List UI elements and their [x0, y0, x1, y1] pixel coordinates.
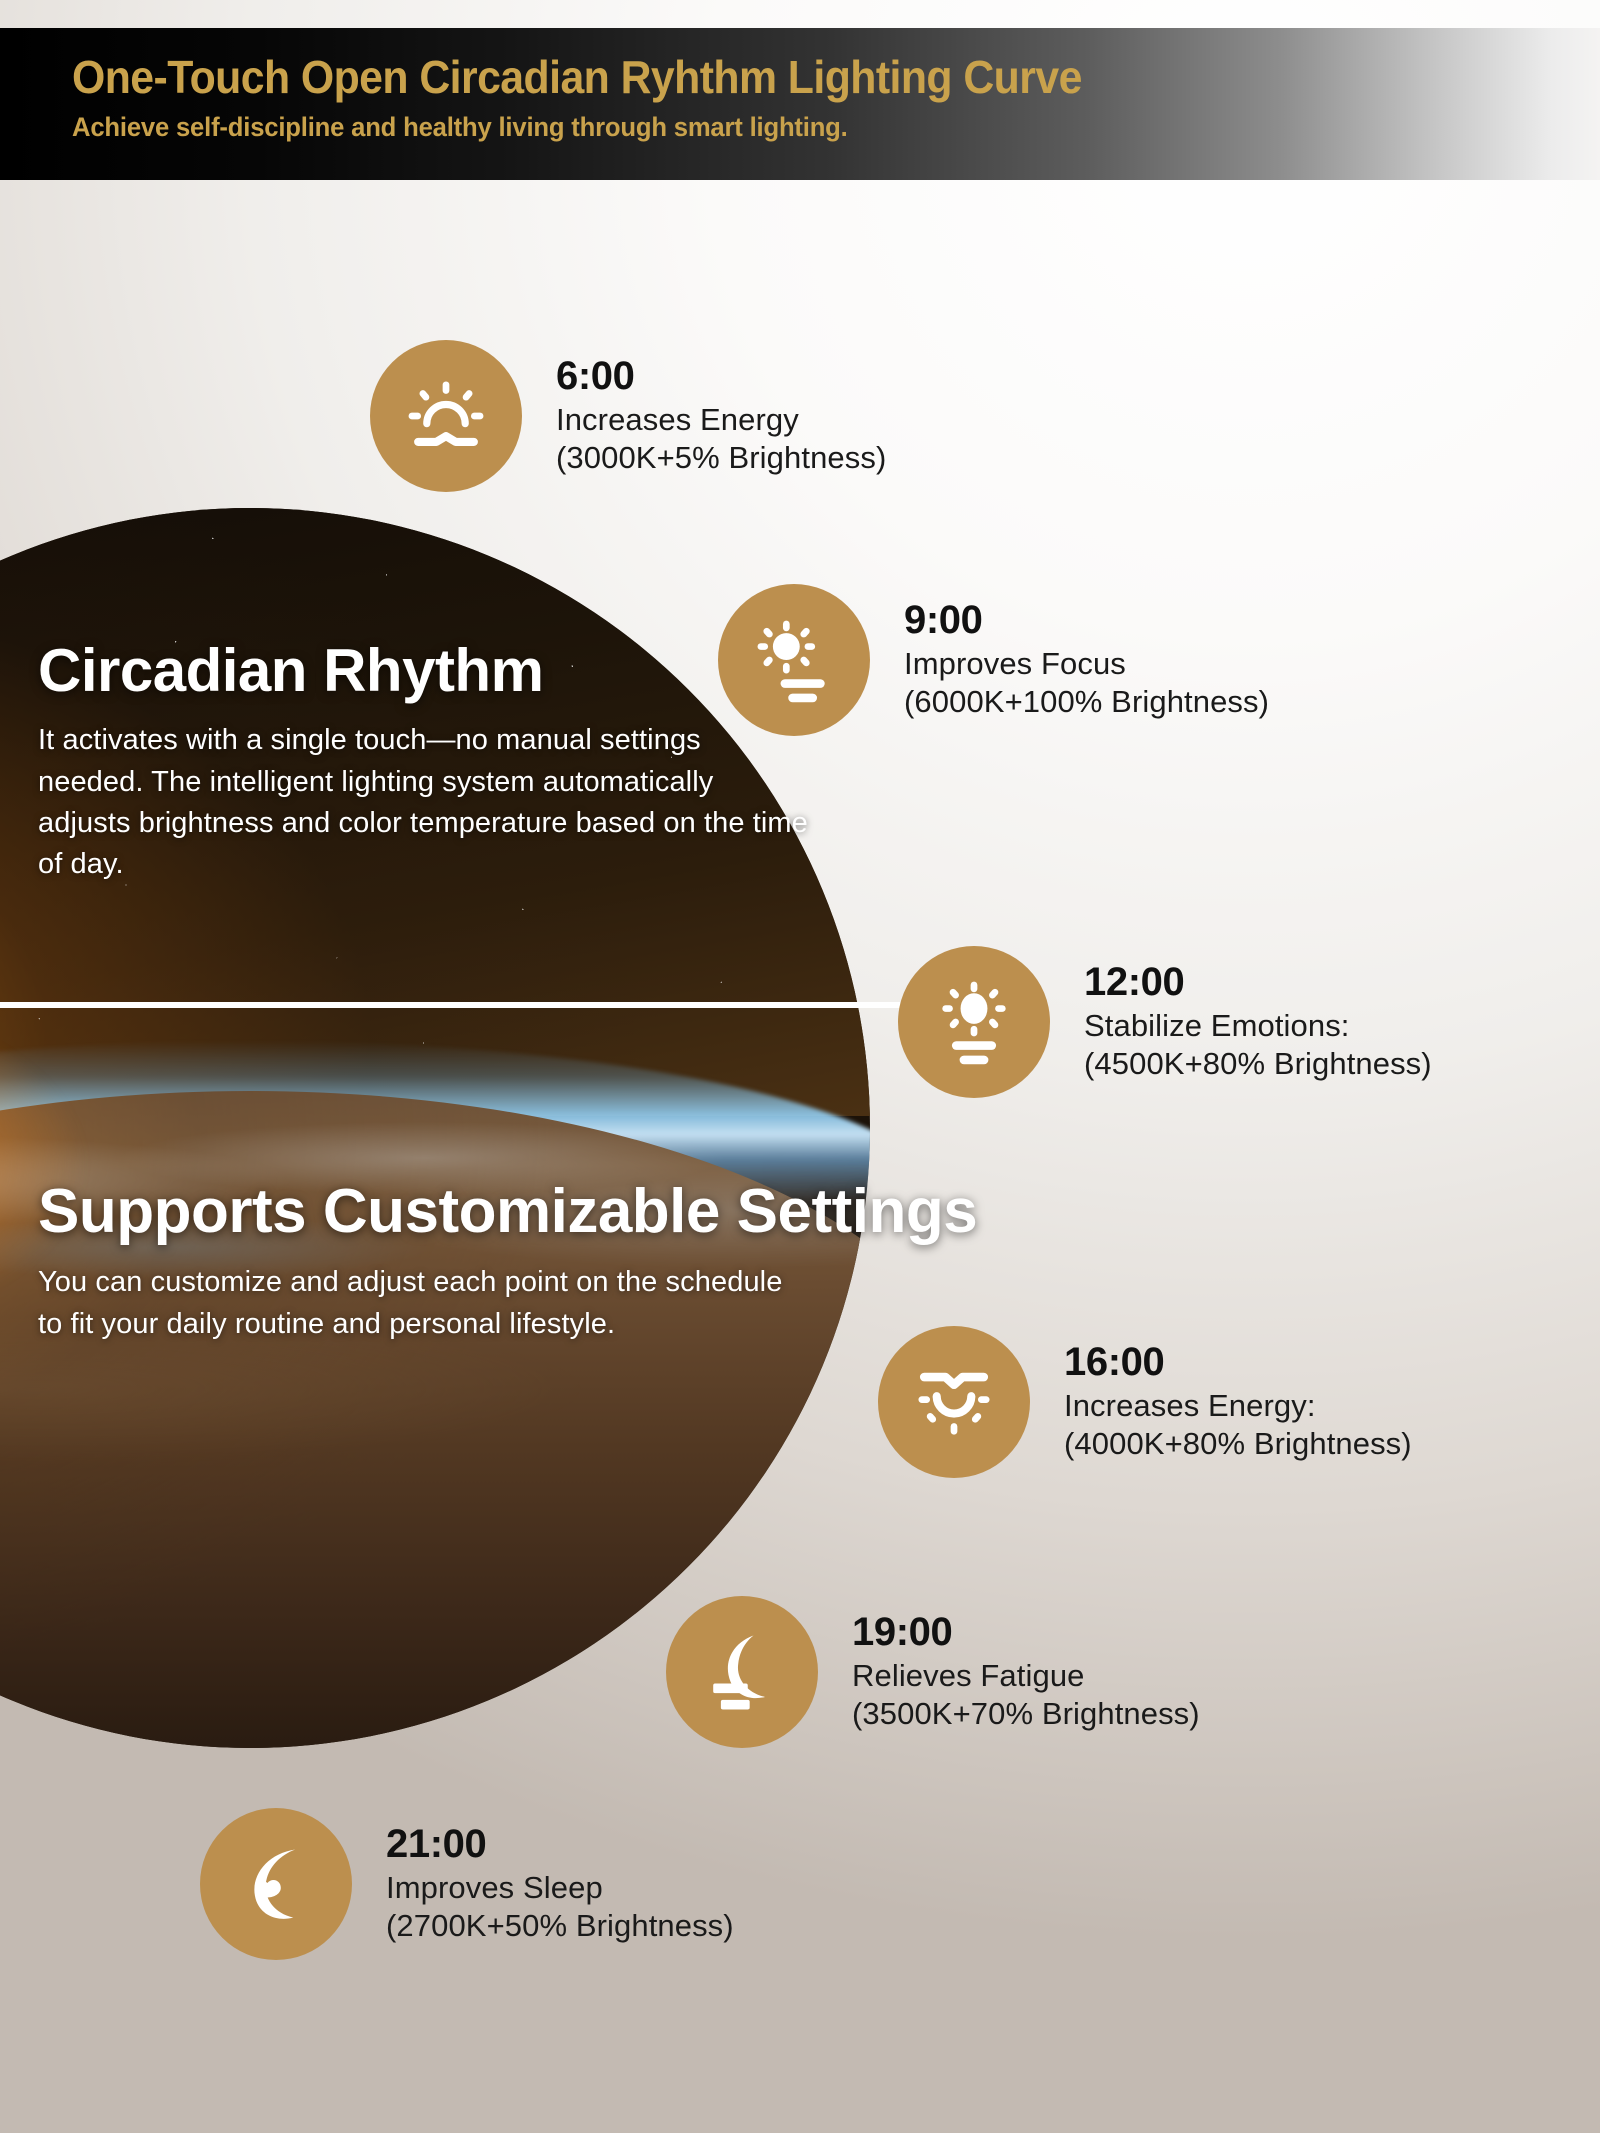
timeline-time: 21:00 — [386, 1823, 734, 1865]
panel-circadian-rhythm: Circadian Rhythm It activates with a sin… — [38, 640, 808, 885]
section-divider — [0, 1002, 900, 1008]
timeline-item-2100[interactable]: 21:00 Improves Sleep (2700K+50% Brightne… — [200, 1808, 734, 1960]
timeline-item-1900[interactable]: 19:00 Relieves Fatigue (3500K+70% Bright… — [666, 1596, 1200, 1748]
timeline-spec: (3000K+5% Brightness) — [556, 439, 886, 477]
timeline-item-1600[interactable]: 16:00 Increases Energy: (4000K+80% Brigh… — [878, 1326, 1412, 1478]
timeline-text: 12:00 Stabilize Emotions: (4500K+80% Bri… — [1084, 961, 1432, 1083]
timeline-time: 16:00 — [1064, 1341, 1412, 1383]
page-subtitle: Achieve self-discipline and healthy livi… — [72, 112, 848, 143]
sunset-icon — [906, 1354, 1002, 1450]
infographic-page: One-Touch Open Circadian Ryhthm Lighting… — [0, 0, 1600, 2133]
sun-lamp-icon — [926, 974, 1022, 1070]
timeline-item-1200[interactable]: 12:00 Stabilize Emotions: (4500K+80% Bri… — [898, 946, 1432, 1098]
timeline-text: 9:00 Improves Focus (6000K+100% Brightne… — [904, 599, 1269, 721]
timeline-effect: Improves Sleep — [386, 1869, 734, 1907]
timeline-badge — [666, 1596, 818, 1748]
panel-body: You can customize and adjust each point … — [38, 1262, 808, 1344]
timeline-effect: Increases Energy — [556, 401, 886, 439]
timeline-badge — [898, 946, 1050, 1098]
timeline-time: 12:00 — [1084, 961, 1432, 1003]
page-title: One-Touch Open Circadian Ryhthm Lighting… — [72, 50, 1082, 104]
timeline-badge — [370, 340, 522, 492]
panel-customizable-settings: Supports Customizable Settings You can c… — [38, 1180, 977, 1345]
timeline-spec: (3500K+70% Brightness) — [852, 1695, 1200, 1733]
timeline-time: 19:00 — [852, 1611, 1200, 1653]
sun-bright-icon — [746, 612, 842, 708]
timeline-text: 6:00 Increases Energy (3000K+5% Brightne… — [556, 355, 886, 477]
moon-sleep-icon — [228, 1836, 324, 1932]
timeline-text: 16:00 Increases Energy: (4000K+80% Brigh… — [1064, 1341, 1412, 1463]
timeline-spec: (6000K+100% Brightness) — [904, 683, 1269, 721]
panel-heading: Circadian Rhythm — [38, 640, 808, 702]
timeline-spec: (4000K+80% Brightness) — [1064, 1425, 1412, 1463]
timeline-item-0600[interactable]: 6:00 Increases Energy (3000K+5% Brightne… — [370, 340, 886, 492]
header-banner: One-Touch Open Circadian Ryhthm Lighting… — [0, 28, 1600, 180]
timeline-time: 9:00 — [904, 599, 1269, 641]
timeline-spec: (2700K+50% Brightness) — [386, 1907, 734, 1945]
sunrise-icon — [398, 368, 494, 464]
timeline-text: 21:00 Improves Sleep (2700K+50% Brightne… — [386, 1823, 734, 1945]
panel-heading: Supports Customizable Settings — [38, 1180, 977, 1244]
timeline-badge — [718, 584, 870, 736]
moon-lamp-icon — [694, 1624, 790, 1720]
timeline-effect: Improves Focus — [904, 645, 1269, 683]
timeline-badge — [200, 1808, 352, 1960]
timeline-effect: Increases Energy: — [1064, 1387, 1412, 1425]
timeline-effect: Stabilize Emotions: — [1084, 1007, 1432, 1045]
timeline-text: 19:00 Relieves Fatigue (3500K+70% Bright… — [852, 1611, 1200, 1733]
timeline-item-0900[interactable]: 9:00 Improves Focus (6000K+100% Brightne… — [718, 584, 1269, 736]
timeline-effect: Relieves Fatigue — [852, 1657, 1200, 1695]
timeline-badge — [878, 1326, 1030, 1478]
panel-body: It activates with a single touch—no manu… — [38, 720, 808, 885]
timeline-spec: (4500K+80% Brightness) — [1084, 1045, 1432, 1083]
timeline-time: 6:00 — [556, 355, 886, 397]
